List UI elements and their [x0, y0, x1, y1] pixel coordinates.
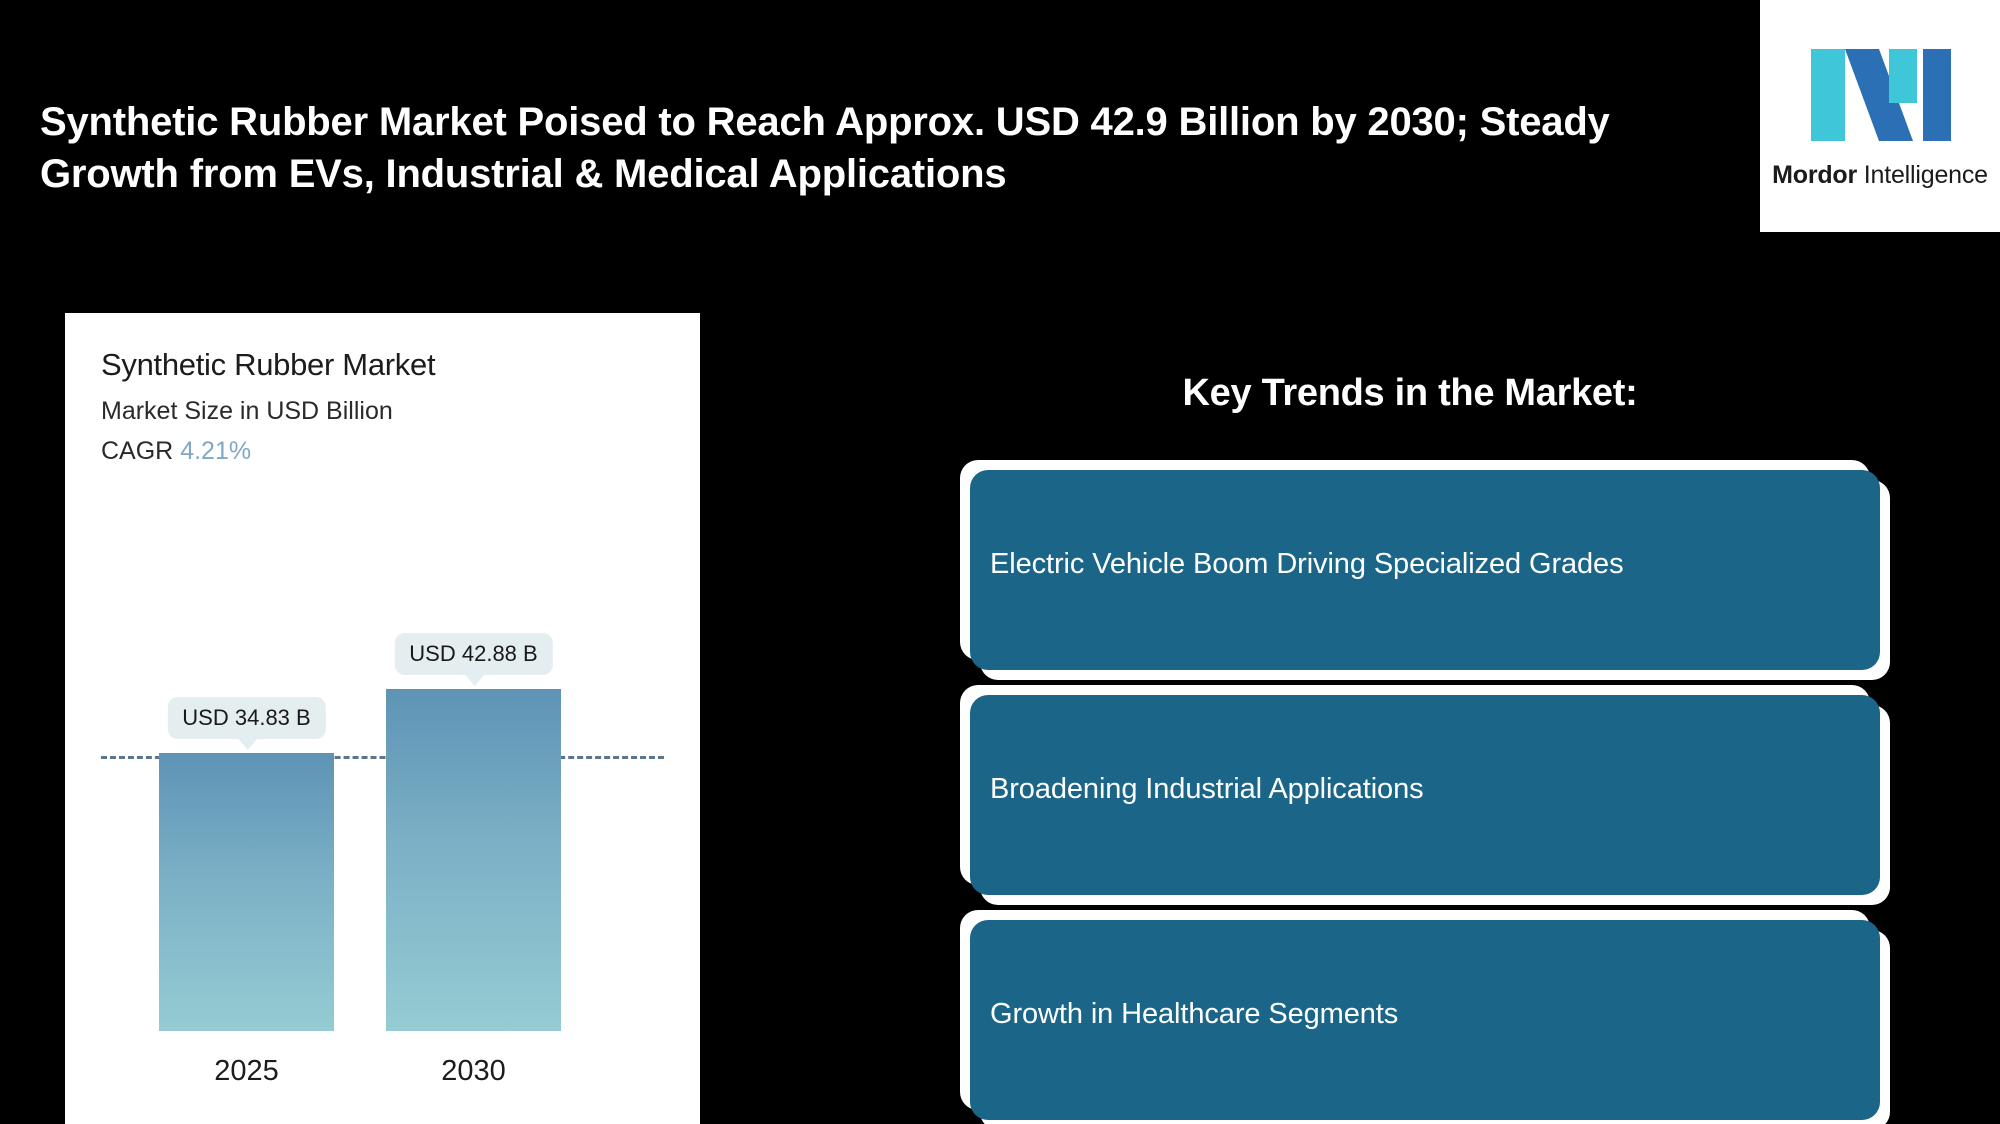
- trend-card-3-text: Growth in Healthcare Segments: [990, 998, 1398, 1031]
- bar-2025: [159, 753, 334, 1031]
- brand-name-light: Intelligence: [1864, 161, 1988, 189]
- x-tick-2025: 2025: [159, 1055, 334, 1088]
- bar-2030: [386, 689, 561, 1031]
- infographic-page: Synthetic Rubber Market Poised to Reach …: [0, 0, 2000, 1124]
- mordor-intelligence-logo-icon: [1805, 43, 1955, 147]
- brand-wordmark: Mordor Intelligence: [1772, 161, 1988, 190]
- chart-subtitle: Market Size in USD Billion: [101, 397, 664, 426]
- trend-card-2-text: Broadening Industrial Applications: [990, 773, 1424, 806]
- chart-card: Synthetic Rubber Market Market Size in U…: [65, 313, 700, 1124]
- brand-name-bold: Mordor: [1772, 161, 1857, 189]
- brand-logo-block: Mordor Intelligence: [1760, 0, 2000, 232]
- trends-heading: Key Trends in the Market:: [1100, 372, 1720, 415]
- x-tick-2030: 2030: [386, 1055, 561, 1088]
- bar-chart-plot: USD 34.83 B USD 42.88 B: [101, 613, 664, 1031]
- chart-cagr-row: CAGR 4.21%: [101, 437, 664, 466]
- chart-title: Synthetic Rubber Market: [101, 347, 664, 383]
- cagr-label: CAGR: [101, 437, 173, 465]
- trend-card-1-text: Electric Vehicle Boom Driving Specialize…: [990, 548, 1623, 581]
- trend-card-3[interactable]: Growth in Healthcare Segments: [970, 920, 1880, 1120]
- trend-card-2[interactable]: Broadening Industrial Applications: [970, 695, 1880, 895]
- x-axis-labels: 2025 2030: [101, 1055, 664, 1097]
- page-title: Synthetic Rubber Market Poised to Reach …: [40, 96, 1640, 200]
- bar-value-label-2030: USD 42.88 B: [394, 633, 552, 675]
- cagr-value: 4.21%: [180, 437, 251, 465]
- trend-card-1[interactable]: Electric Vehicle Boom Driving Specialize…: [970, 470, 1880, 670]
- bar-value-label-2025: USD 34.83 B: [167, 697, 325, 739]
